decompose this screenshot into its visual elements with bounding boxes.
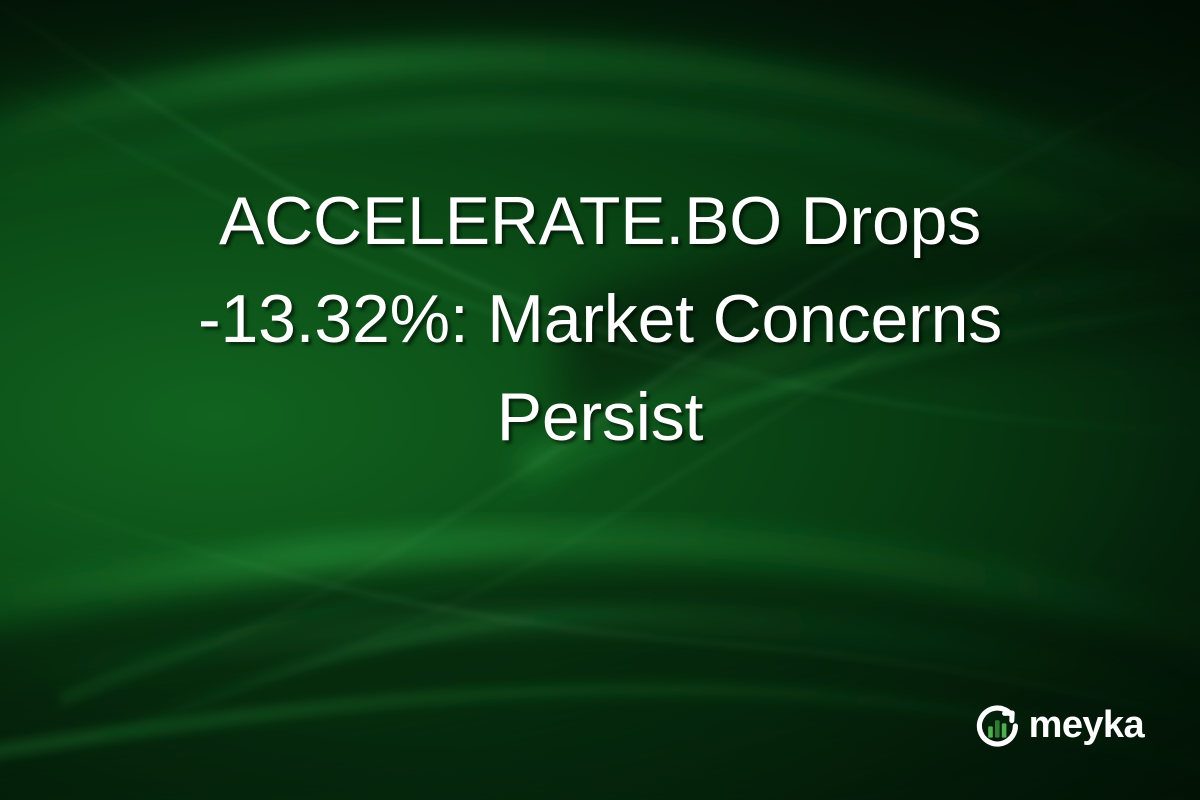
page-title: ACCELERATE.BO Drops -13.32%: Market Conc… xyxy=(60,172,1140,466)
share-card: ACCELERATE.BO Drops -13.32%: Market Conc… xyxy=(0,0,1200,800)
brand-logo[interactable]: meyka xyxy=(974,702,1144,750)
bar-chart-ring-icon xyxy=(974,702,1022,750)
brand-wordmark: meyka xyxy=(1029,706,1144,744)
